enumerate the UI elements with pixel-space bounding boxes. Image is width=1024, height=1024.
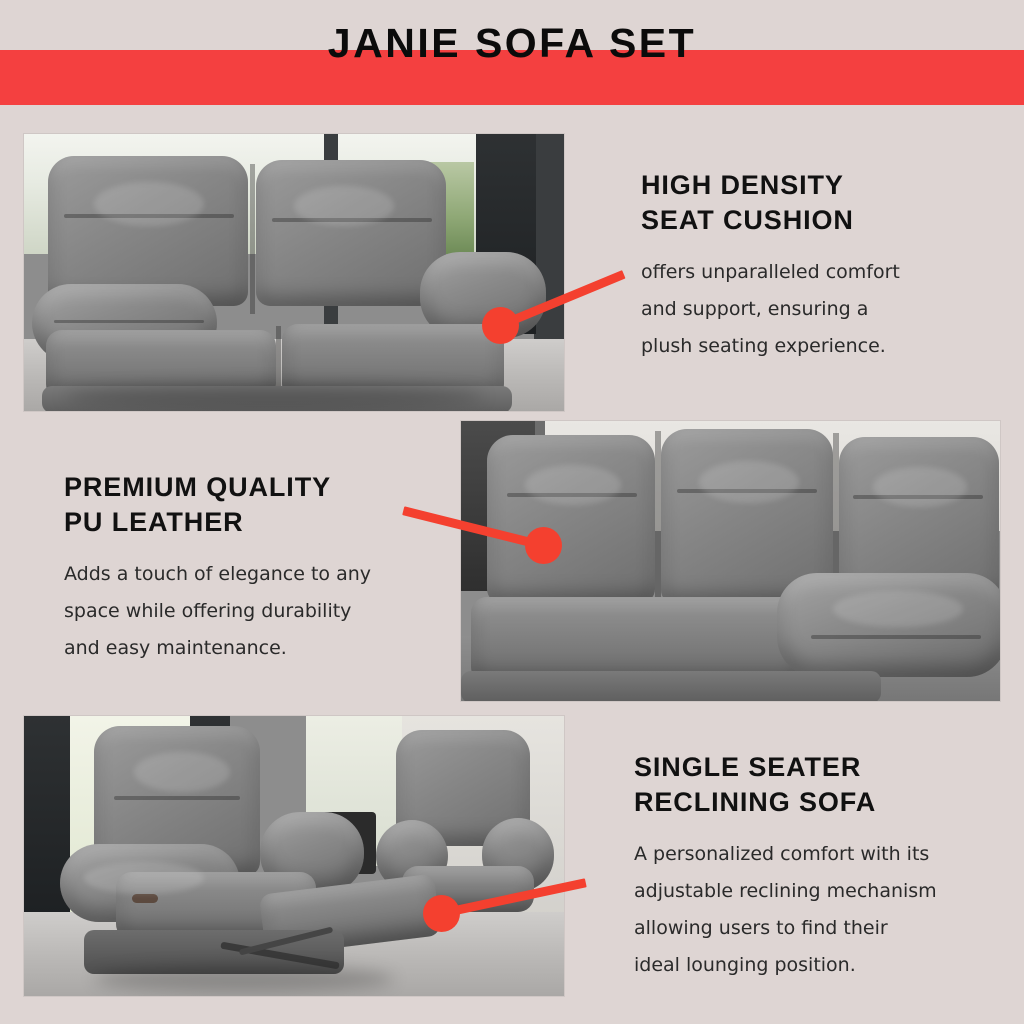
sofa-base <box>461 671 881 702</box>
page-title: JANIE SOFA SET <box>0 18 1024 68</box>
recliner-highlight-2 <box>84 862 204 894</box>
callout-high-density-seat-cushion: HIGH DENSITY SEAT CUSHION offers unparal… <box>641 168 993 365</box>
backrest-seam-1 <box>655 431 661 609</box>
feature-image-single-seater-reclining-sofa <box>23 715 565 997</box>
recliner-release-handle <box>132 894 158 903</box>
callout-heading: PREMIUM QUALITY PU LEATHER <box>64 470 404 540</box>
arm-stitch <box>811 635 981 639</box>
recliner-highlight-1 <box>134 752 230 792</box>
pointer-dot-high-density-seat-cushion <box>482 307 519 344</box>
pointer-dot-single-seater-reclining-sofa <box>423 895 460 932</box>
recliner-backrest-stitch <box>114 796 240 800</box>
callout-body: offers unparalleled comfort and support,… <box>641 254 993 365</box>
cushion-highlight-2 <box>294 186 394 226</box>
recliner-scene <box>24 716 564 996</box>
cushion-highlight-2 <box>699 461 799 503</box>
backrest-seam <box>250 164 255 314</box>
callout-heading: SINGLE SEATER RECLINING SOFA <box>634 750 984 820</box>
loveseat-scene <box>24 134 564 411</box>
pointer-dot-premium-quality-pu-leather <box>525 527 562 564</box>
floor-shadow <box>94 966 394 992</box>
callout-body: Adds a touch of elegance to any space wh… <box>64 556 404 667</box>
infographic-page: JANIE SOFA SET <box>0 0 1024 1024</box>
callout-premium-quality-pu-leather: PREMIUM QUALITY PU LEATHER Adds a touch … <box>64 470 404 667</box>
arm-highlight <box>833 591 963 627</box>
backrest-right <box>256 160 446 306</box>
arm-left-stitch <box>54 320 204 323</box>
backrest-cushion-1 <box>487 435 655 603</box>
callout-heading: HIGH DENSITY SEAT CUSHION <box>641 168 993 238</box>
cushion-highlight-1 <box>94 182 204 226</box>
callout-body: A personalized comfort with its adjustab… <box>634 836 984 984</box>
callout-single-seater-reclining-sofa: SINGLE SEATER RECLINING SOFA A personali… <box>634 750 984 984</box>
feature-image-high-density-seat-cushion <box>23 133 565 412</box>
floor-shadow <box>64 384 484 408</box>
cushion-highlight-1 <box>525 465 621 505</box>
cushion-highlight-3 <box>873 467 967 507</box>
